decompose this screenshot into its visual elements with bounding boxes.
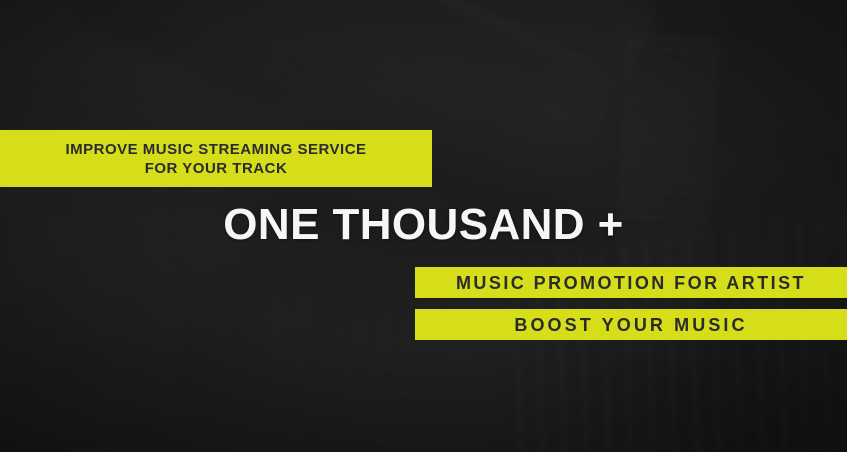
tagline-banner: IMPROVE MUSIC STREAMING SERVICE FOR YOUR… [0, 130, 432, 187]
promo-bar-music-promotion: MUSIC PROMOTION FOR ARTIST [415, 267, 847, 298]
promo-bar-label-1: MUSIC PROMOTION FOR ARTIST [456, 273, 806, 293]
tagline-line-2: FOR YOUR TRACK [145, 159, 288, 178]
page-title: ONE THOUSAND + [0, 199, 847, 251]
promo-bar-boost-your-music: BOOST YOUR MUSIC [415, 309, 847, 340]
promo-bar-label-2: BOOST YOUR MUSIC [514, 315, 747, 335]
tagline-line-1: IMPROVE MUSIC STREAMING SERVICE [65, 140, 366, 159]
hero-content: IMPROVE MUSIC STREAMING SERVICE FOR YOUR… [0, 0, 847, 452]
music-promotion-hero-banner: IMPROVE MUSIC STREAMING SERVICE FOR YOUR… [0, 0, 847, 452]
